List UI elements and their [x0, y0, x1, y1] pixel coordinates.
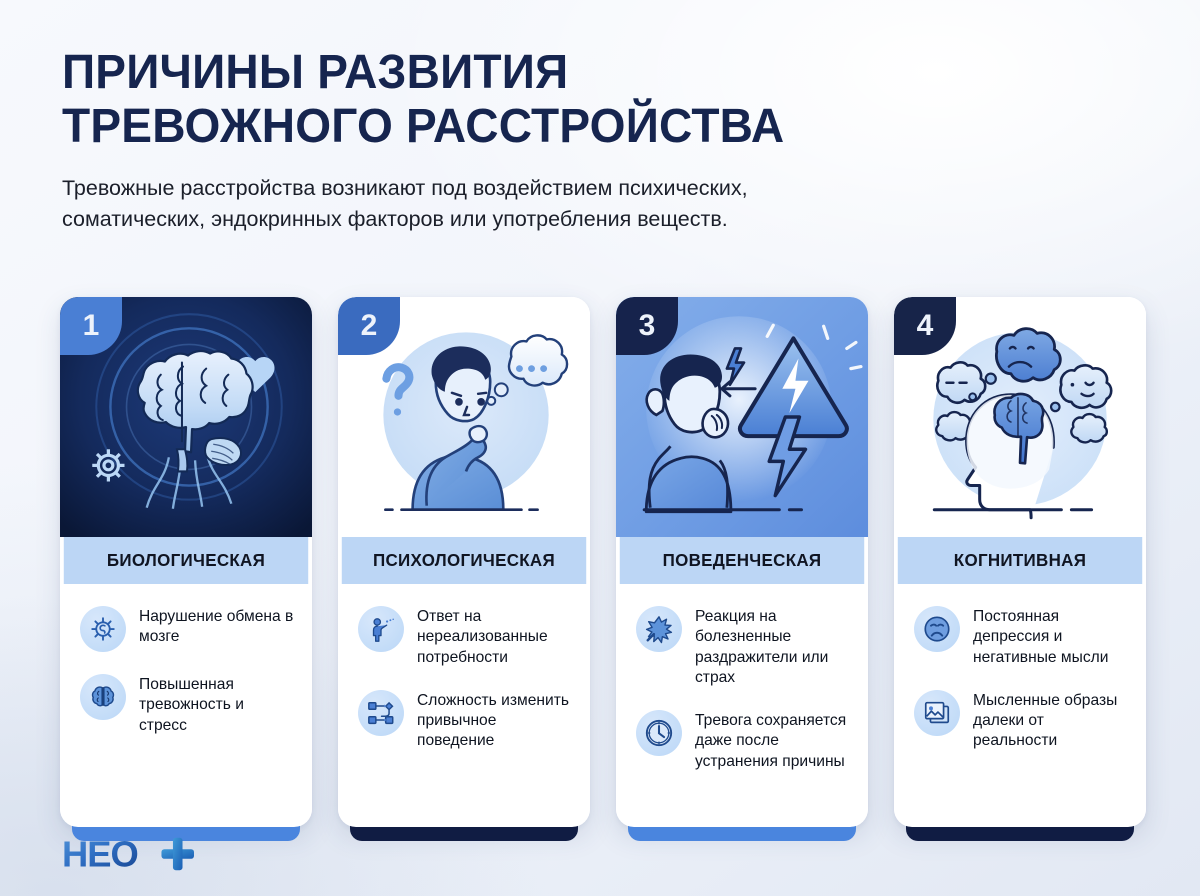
bullet-text: Повышенная тревожность и стресс [139, 674, 294, 736]
page-header: ПРИЧИНЫ РАЗВИТИЯ ТРЕВОЖНОГО РАССТРОЙСТВА… [62, 46, 1142, 235]
page-subtitle-line-2: соматических, эндокринных факторов или у… [62, 204, 1042, 235]
card-bullets-1: Нарушение обмена в мозге Повыш [60, 584, 312, 827]
plus-icon [161, 838, 194, 871]
neo-plus-logo-icon: НЕО [62, 832, 205, 876]
wry-cloud-icon [1060, 365, 1111, 407]
card-illustration-1: 1 [60, 297, 312, 537]
bullet-item: Реакция на болезненные раздражители или … [636, 606, 850, 688]
flowchart-icon [358, 690, 404, 736]
cause-card-psychological[interactable]: 2 ПСИХОЛОГИЧЕСКАЯ Ответ на нереализованн… [338, 297, 590, 827]
bullet-item: Сложность изменить привычное поведение [358, 690, 572, 752]
card-bullets-3: Реакция на болезненные раздражители или … [616, 584, 868, 827]
bullet-text: Тревога сохраняется даже после устранени… [695, 710, 850, 772]
person-reaching-icon [358, 606, 404, 652]
card-bullets-4: Постоянная депрессия и негативные мысли … [894, 584, 1146, 827]
card-label-3: ПОВЕДЕНЧЕСКАЯ [620, 537, 864, 584]
cause-card-behavioral[interactable]: 3 ПОВЕДЕНЧЕСКАЯ Реакция на болезненные р… [616, 297, 868, 827]
card-illustration-2: 2 [338, 297, 590, 537]
brain-icon [80, 674, 126, 720]
page-title-line-1: ПРИЧИНЫ РАЗВИТИЯ [62, 46, 568, 99]
card-illustration-4: 4 [894, 297, 1146, 537]
bullet-text: Ответ на нереализованные потребности [417, 606, 572, 668]
small-cloud-right-icon [1071, 414, 1107, 442]
card-bullets-2: Ответ на нереализованные потребности [338, 584, 590, 827]
cause-card-cognitive[interactable]: 4 КОГНИТИВНАЯ Постоянная депрессия и нег… [894, 297, 1146, 827]
page-title-line-2: ТРЕВОЖНОГО РАССТРОЙСТВА [62, 100, 1099, 154]
brand-logo[interactable]: НЕО [62, 832, 205, 876]
bullet-item: Постоянная депрессия и негативные мысли [914, 606, 1128, 668]
page-subtitle-line-1: Тревожные расстройства возникают под воз… [62, 176, 748, 200]
photos-icon [914, 690, 960, 736]
bullet-text: Мысленные образы далеки от реальности [973, 690, 1128, 752]
neutral-cloud-icon [937, 362, 985, 402]
page-subtitle: Тревожные расстройства возникают под воз… [62, 173, 1042, 234]
card-illustration-3: 3 [616, 297, 868, 537]
logo-text: НЕО [62, 833, 138, 874]
card-label-1: БИОЛОГИЧЕСКАЯ [64, 537, 308, 584]
cause-card-biological[interactable]: 1 БИОЛОГИЧЕСКАЯ Нарушение обмена в мозге [60, 297, 312, 827]
bullet-text: Нарушение обмена в мозге [139, 606, 294, 648]
clock-icon [636, 710, 682, 756]
card-label-2: ПСИХОЛОГИЧЕСКАЯ [342, 537, 586, 584]
cause-cards-row: 1 БИОЛОГИЧЕСКАЯ Нарушение обмена в мозге [60, 297, 1146, 827]
bullet-item: Повышенная тревожность и стресс [80, 674, 294, 736]
page-title: ПРИЧИНЫ РАЗВИТИЯ ТРЕВОЖНОГО РАССТРОЙСТВА [62, 46, 1099, 154]
bullet-text: Постоянная депрессия и негативные мысли [973, 606, 1128, 668]
burst-impact-icon [636, 606, 682, 652]
bullet-item: Нарушение обмена в мозге [80, 606, 294, 652]
card-label-4: КОГНИТИВНАЯ [898, 537, 1142, 584]
bullet-item: Мысленные образы далеки от реальности [914, 690, 1128, 752]
sad-cloud-icon [996, 329, 1060, 382]
gear-metabolism-icon [80, 606, 126, 652]
sad-face-icon [914, 606, 960, 652]
bullet-text: Реакция на болезненные раздражители или … [695, 606, 850, 688]
bullet-text: Сложность изменить привычное поведение [417, 690, 572, 752]
bullet-item: Тревога сохраняется даже после устранени… [636, 710, 850, 772]
bullet-item: Ответ на нереализованные потребности [358, 606, 572, 668]
